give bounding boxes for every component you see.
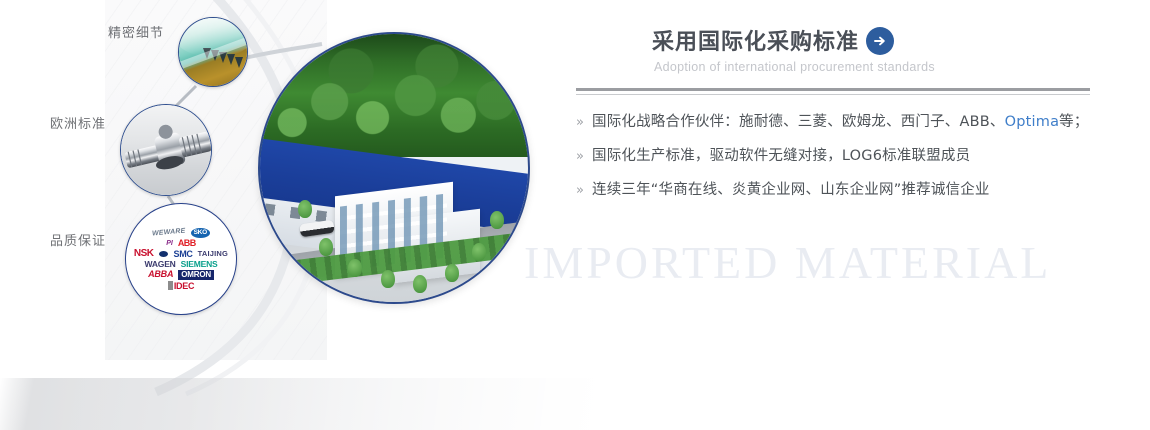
watermark-text: IMPORTED MATERIAL: [524, 236, 1051, 289]
logo-idec: IDEC: [168, 281, 194, 291]
promo-banner: 精密细节 欧洲标准 品质保证: [0, 0, 1150, 430]
logo-taijing: TAIJING: [198, 250, 228, 258]
brand-logo-collage-icon: WEWARE SKO PI ABB NSK SMC TAIJING WAGEN …: [125, 203, 237, 315]
list-item: » 国际化战略合作伙伴：施耐德、三菱、欧姆龙、西门子、ABB、Optima等；: [576, 113, 1090, 132]
section-number: 02: [576, 20, 620, 66]
arrow-right-circle-icon[interactable]: [866, 27, 894, 55]
logo-abb: ABB: [178, 239, 196, 248]
label-quality-guarantee: 品质保证: [50, 230, 106, 249]
section-header: 02 采用国际化采购标准 Adoption of international p…: [576, 22, 1090, 84]
chevron-double-right-icon: »: [576, 147, 592, 166]
section-subtitle: Adoption of international procurement st…: [654, 60, 935, 74]
bullet-text: 国际化生产标准，驱动软件无缝对接，LOG6标准联盟成员: [592, 147, 970, 166]
factory-aerial-photo: [258, 32, 530, 304]
logo-wagen: WAGEN: [145, 260, 176, 269]
logo-abba: ABBA: [148, 270, 173, 279]
chevron-double-right-icon: »: [576, 113, 592, 132]
section-title: 采用国际化采购标准: [652, 24, 859, 56]
gear-teeth-macro-icon: [178, 17, 248, 87]
logo-smc: SMC: [174, 250, 193, 259]
highlight-optima: Optima: [1005, 114, 1060, 130]
logo-weware: WEWARE: [152, 228, 186, 238]
ball-screw-photo-icon: [120, 104, 212, 196]
logo-omron: OMRON: [178, 270, 214, 280]
smc-dot-icon: [159, 251, 168, 257]
label-european-standard: 欧洲标准: [50, 113, 106, 132]
bullet-text: 连续三年“华商在线、炎黄企业网、山东企业网”推荐诚信企业: [592, 181, 990, 200]
logo-siemens: SIEMENS: [181, 260, 218, 269]
bullet-text: 国际化战略合作伙伴：施耐德、三菱、欧姆龙、西门子、ABB、Optima等；: [592, 113, 1089, 132]
header-divider: [576, 88, 1090, 95]
list-item: » 连续三年“华商在线、炎黄企业网、山东企业网”推荐诚信企业: [576, 181, 1090, 200]
list-item: » 国际化生产标准，驱动软件无缝对接，LOG6标准联盟成员: [576, 147, 1090, 166]
logo-nsk: NSK: [134, 249, 154, 259]
ball-screw-shape-icon: [121, 105, 212, 196]
label-precision-detail: 精密细节: [108, 22, 164, 41]
bottom-decorative-band: [0, 378, 1150, 430]
logo-sko: SKO: [191, 228, 210, 239]
content-column: 02 采用国际化采购标准 Adoption of international p…: [576, 22, 1090, 215]
chevron-double-right-icon: »: [576, 181, 592, 200]
logo-pi: PI: [166, 240, 173, 247]
bullet-list: » 国际化战略合作伙伴：施耐德、三菱、欧姆龙、西门子、ABB、Optima等； …: [576, 113, 1090, 200]
